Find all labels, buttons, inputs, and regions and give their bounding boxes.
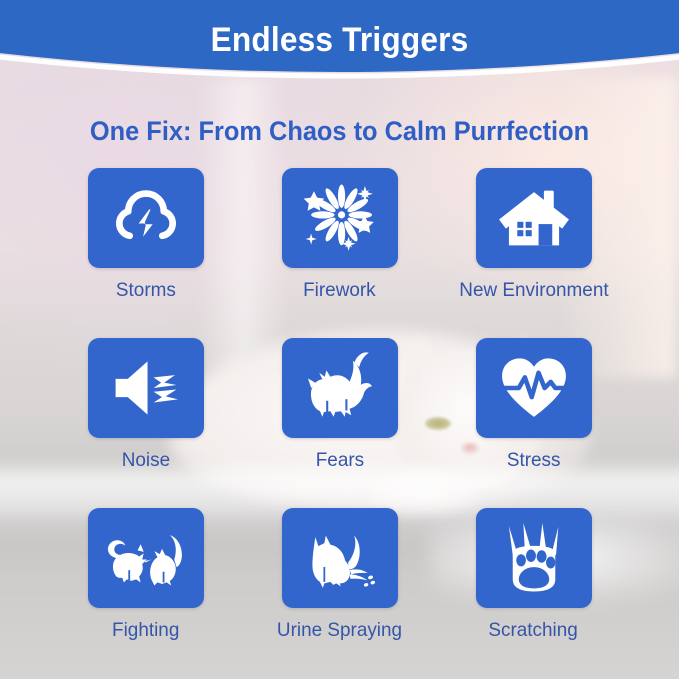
trigger-label: Noise (121, 449, 169, 472)
trigger-tile[interactable] (476, 338, 592, 438)
trigger-label: Fighting (112, 619, 179, 642)
header-banner: Endless Triggers (0, 0, 679, 92)
trigger-tile[interactable] (88, 338, 204, 438)
house-icon (496, 180, 572, 256)
page-title: Endless Triggers (24, 21, 655, 60)
trigger-tile[interactable] (282, 168, 398, 268)
trigger-tile[interactable] (476, 168, 592, 268)
trigger-tile[interactable] (88, 168, 204, 268)
trigger-row: Fighting (0, 508, 679, 642)
cat-spraying-icon (299, 518, 381, 598)
heart-heartbeat-icon (496, 350, 572, 426)
trigger-label: Stress (507, 449, 561, 472)
cloud-lightning-icon (109, 181, 183, 255)
trigger-row: Noise (0, 338, 679, 472)
promo-infographic: Endless Triggers One Fix: From Chaos to … (0, 0, 679, 679)
trigger-grid: Storms (0, 168, 679, 642)
paw-claws-icon (496, 518, 572, 598)
trigger-item-storms[interactable]: Storms (86, 168, 206, 302)
trigger-item-stress[interactable]: Stress (474, 338, 594, 472)
trigger-item-firework[interactable]: Firework (280, 168, 400, 302)
trigger-label: Urine Spraying (277, 619, 402, 642)
trigger-item-urine-spraying[interactable]: Urine Spraying (280, 508, 400, 642)
trigger-label: Fears (315, 449, 363, 472)
trigger-label: Firework (303, 279, 376, 302)
trigger-item-fears[interactable]: Fears (280, 338, 400, 472)
trigger-item-noise[interactable]: Noise (86, 338, 206, 472)
trigger-item-fighting[interactable]: Fighting (86, 508, 206, 642)
trigger-item-new-environment[interactable]: New Environment (474, 168, 594, 302)
trigger-label: Storms (116, 279, 176, 302)
trigger-label: New Environment (459, 279, 608, 302)
trigger-tile[interactable] (282, 338, 398, 438)
speaker-sound-icon (108, 350, 184, 426)
firework-burst-icon (301, 179, 379, 257)
trigger-tile[interactable] (88, 508, 204, 608)
trigger-row: Storms (0, 168, 679, 302)
scared-cat-icon (300, 348, 380, 428)
trigger-tile[interactable] (476, 508, 592, 608)
two-cats-fighting-icon (104, 518, 188, 598)
trigger-item-scratching[interactable]: Scratching (474, 508, 594, 642)
trigger-tile[interactable] (282, 508, 398, 608)
subtitle: One Fix: From Chaos to Calm Purrfection (20, 116, 658, 147)
trigger-label: Scratching (489, 619, 578, 642)
